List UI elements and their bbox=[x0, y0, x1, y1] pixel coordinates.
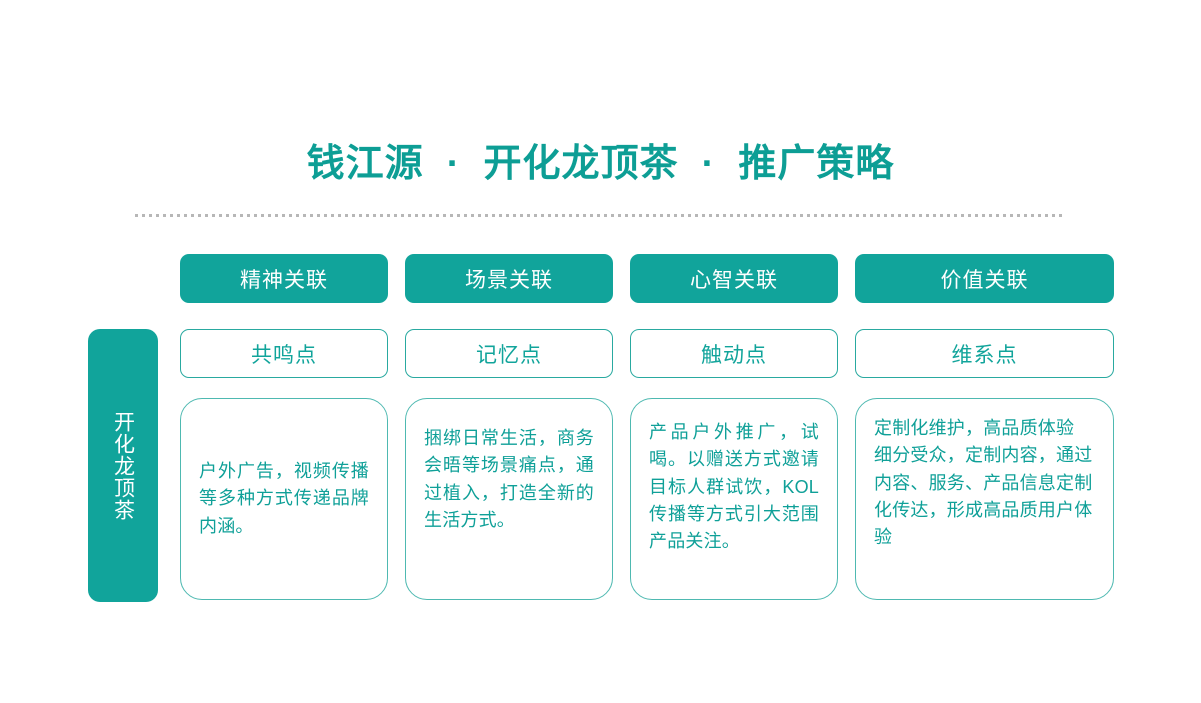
column-2-subheader-pill[interactable]: 记忆点 bbox=[405, 329, 613, 378]
column-2-header-pill[interactable]: 场景关联 bbox=[405, 254, 613, 303]
column-3-header-pill[interactable]: 心智关联 bbox=[630, 254, 838, 303]
brand-vertical-label: 开化龙顶茶 bbox=[88, 329, 158, 602]
column-3-subheader-pill[interactable]: 触动点 bbox=[630, 329, 838, 378]
column-1-detail-text: 户外广告，视频传播等多种方式传递品牌内涵。 bbox=[199, 458, 369, 540]
column-4-detail-card: 定制化维护，高品质体验 细分受众，定制内容，通过内容、服务、产品信息定制化传达，… bbox=[855, 398, 1114, 600]
column-1-detail-card: 户外广告，视频传播等多种方式传递品牌内涵。 bbox=[180, 398, 388, 600]
strategy-column-3: 心智关联 触动点 产品户外推广，试喝。以赠送方式邀请目标人群试饮，KOL传播等方… bbox=[630, 254, 838, 600]
column-2-detail-text: 捆绑日常生活，商务会晤等场景痛点，通过植入，打造全新的生活方式。 bbox=[424, 425, 594, 534]
column-3-detail-card: 产品户外推广，试喝。以赠送方式邀请目标人群试饮，KOL传播等方式引大范围产品关注… bbox=[630, 398, 838, 600]
strategy-column-4: 价值关联 维系点 定制化维护，高品质体验 细分受众，定制内容，通过内容、服务、产… bbox=[855, 254, 1114, 600]
column-4-subheader-pill[interactable]: 维系点 bbox=[855, 329, 1114, 378]
column-3-detail-text: 产品户外推广，试喝。以赠送方式邀请目标人群试饮，KOL传播等方式引大范围产品关注… bbox=[649, 419, 819, 556]
brand-vertical-label-text: 开化龙顶茶 bbox=[107, 411, 138, 521]
strategy-column-1: 精神关联 共鸣点 户外广告，视频传播等多种方式传递品牌内涵。 bbox=[180, 254, 388, 600]
column-2-detail-card: 捆绑日常生活，商务会晤等场景痛点，通过植入，打造全新的生活方式。 bbox=[405, 398, 613, 600]
column-1-header-pill[interactable]: 精神关联 bbox=[180, 254, 388, 303]
column-4-detail-text: 定制化维护，高品质体验 细分受众，定制内容，通过内容、服务、产品信息定制化传达，… bbox=[874, 415, 1095, 552]
strategy-column-2: 场景关联 记忆点 捆绑日常生活，商务会晤等场景痛点，通过植入，打造全新的生活方式… bbox=[405, 254, 613, 600]
column-1-subheader-pill[interactable]: 共鸣点 bbox=[180, 329, 388, 378]
column-4-header-pill[interactable]: 价值关联 bbox=[855, 254, 1114, 303]
page-title: 钱江源 · 开化龙顶茶 · 推广策略 bbox=[0, 143, 1201, 187]
title-divider bbox=[135, 214, 1066, 217]
slide-canvas: { "slide": { "title": "钱江源 · 开化龙顶茶 · 推广策… bbox=[0, 0, 1201, 703]
